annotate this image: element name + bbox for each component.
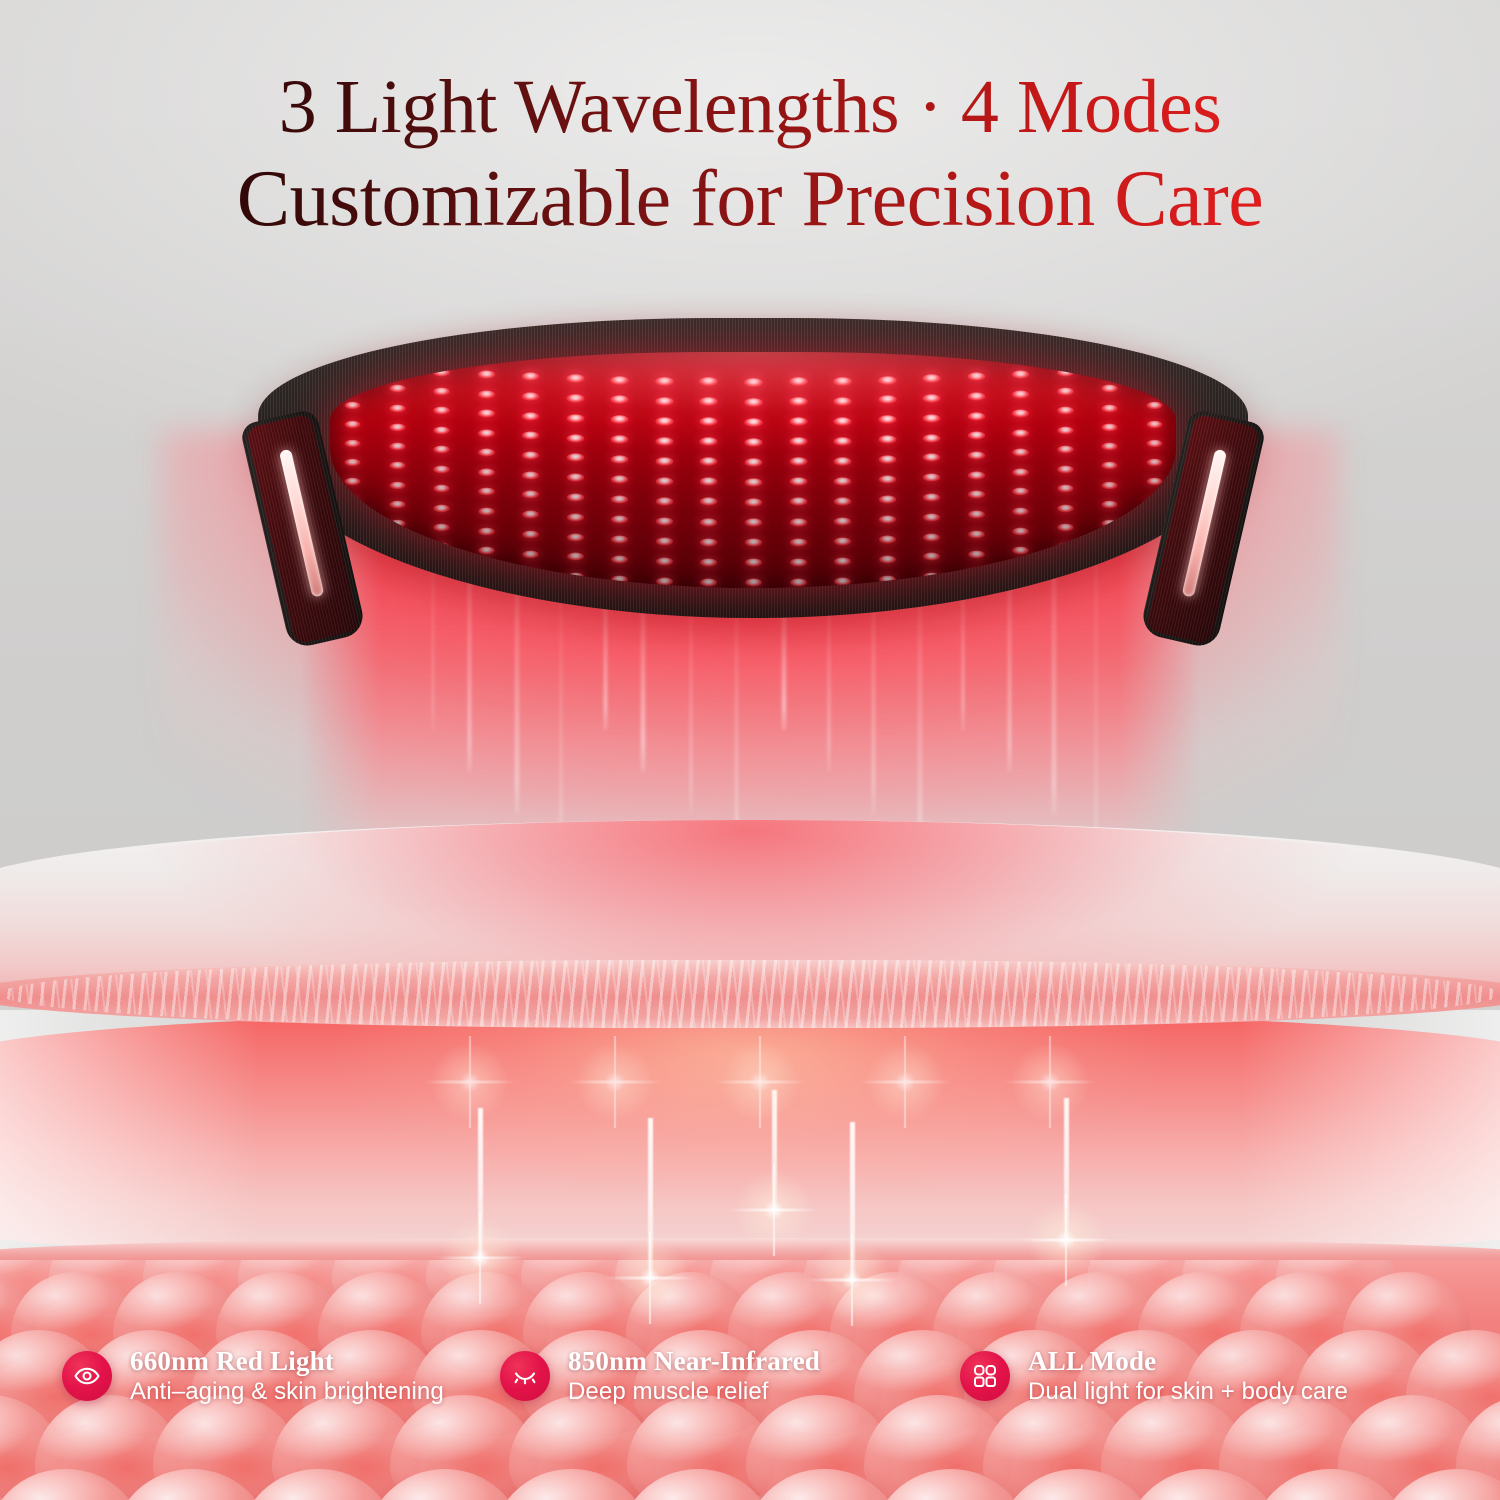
surface-spark [715,1037,805,1127]
surface-spark [425,1037,515,1127]
feature-subtitle: Anti–aging & skin brightening [130,1377,444,1407]
feature-title: 850nm Near-Infrared [568,1345,820,1377]
led-therapy-belt [258,318,1248,688]
beam-spark [1021,1195,1111,1285]
beam-spark [605,1233,695,1323]
feature-subtitle: Deep muscle relief [568,1377,820,1407]
feature-text-all-mode: ALL Mode Dual light for skin + body care [1028,1345,1348,1407]
device-led-panel [330,352,1176,588]
eye-open-icon [62,1351,112,1401]
surface-spark [570,1037,660,1127]
product-feature-graphic: 3 Light Wavelengths · 4 Modes Customizab… [0,0,1500,1500]
feature-subtitle: Dual light for skin + body care [1028,1377,1348,1407]
feature-title: 660nm Red Light [130,1345,444,1377]
beam-spark [729,1165,819,1255]
feature-strip: 660nm Red Light Anti–aging & skin bright… [0,1330,1500,1422]
feature-item-850nm: 850nm Near-Infrared Deep muscle relief [500,1330,960,1422]
feature-text-850nm: 850nm Near-Infrared Deep muscle relief [568,1345,820,1407]
grid-2x2-icon [960,1351,1010,1401]
surface-spark [860,1037,950,1127]
eye-closed-icon [500,1351,550,1401]
feature-title: ALL Mode [1028,1345,1348,1377]
beam-spark [435,1213,525,1303]
feature-item-660nm: 660nm Red Light Anti–aging & skin bright… [0,1330,500,1422]
feature-text-660nm: 660nm Red Light Anti–aging & skin bright… [130,1345,444,1407]
panel-sheen [330,352,1176,588]
beam-spark [807,1235,897,1325]
surface-spark [1005,1037,1095,1127]
feature-item-all-mode: ALL Mode Dual light for skin + body care [960,1330,1460,1422]
